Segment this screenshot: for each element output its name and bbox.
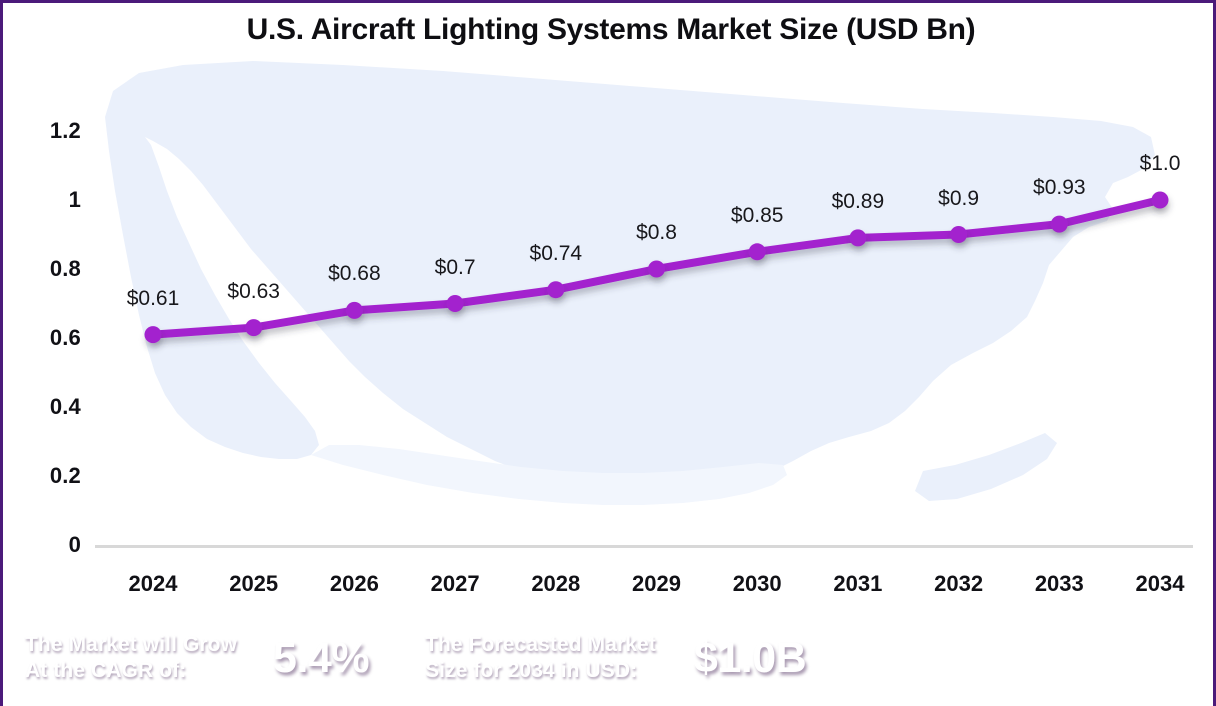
- plot-area: 1.2 1 0.8 0.6 0.4 0.2 0 $0.61$0.63$0.68$…: [3, 49, 1215, 608]
- x-tick-label: 2027: [431, 571, 480, 597]
- x-tick-label: 2026: [330, 571, 379, 597]
- x-tick-label: 2024: [129, 571, 178, 597]
- x-tick-label: 2025: [229, 571, 278, 597]
- cagr-label-line1: The Market will Grow: [25, 632, 237, 658]
- forecast-block: The Forecasted Market Size for 2034 in U…: [425, 632, 656, 683]
- data-point-label: $0.63: [227, 280, 280, 304]
- data-point[interactable]: [547, 281, 564, 298]
- x-axis-labels: 2024202520262027202820292030203120322033…: [3, 559, 1215, 604]
- data-point[interactable]: [1051, 216, 1068, 233]
- x-tick-label: 2028: [531, 571, 580, 597]
- logo-name: market.us: [941, 637, 1133, 667]
- data-point[interactable]: [145, 326, 162, 343]
- x-tick-label: 2033: [1035, 571, 1084, 597]
- data-point[interactable]: [1152, 192, 1169, 209]
- logo-tagline: ONE STOP SHOP FOR THE REPORTS: [941, 671, 1133, 679]
- data-point-label: $0.9: [938, 187, 979, 211]
- data-point[interactable]: [447, 295, 464, 312]
- x-tick-label: 2029: [632, 571, 681, 597]
- market-us-logo[interactable]: market.us ONE STOP SHOP FOR THE REPORTS: [878, 637, 1133, 679]
- forecast-label-line1: The Forecasted Market: [425, 632, 656, 658]
- data-point-label: $0.61: [127, 287, 180, 311]
- data-point-label: $0.8: [636, 221, 677, 245]
- data-point-label: $0.7: [435, 256, 476, 280]
- data-point[interactable]: [950, 226, 967, 243]
- data-point[interactable]: [749, 243, 766, 260]
- forecast-label-line2: Size for 2034 in USD:: [425, 658, 656, 684]
- x-tick-label: 2030: [733, 571, 782, 597]
- cagr-value-block: 5.4%: [273, 634, 369, 683]
- cagr-block: The Market will Grow At the CAGR of:: [25, 632, 237, 683]
- cagr-value: 5.4%: [273, 634, 369, 683]
- x-tick-label: 2034: [1136, 571, 1185, 597]
- data-point-label: $0.68: [328, 262, 381, 286]
- x-tick-label: 2032: [934, 571, 983, 597]
- data-point-label: $1.0: [1140, 152, 1181, 176]
- data-point[interactable]: [849, 229, 866, 246]
- data-point-label: $0.74: [530, 242, 583, 266]
- data-point[interactable]: [648, 261, 665, 278]
- footer-bar: The Market will Grow At the CAGR of: 5.4…: [0, 610, 1216, 706]
- series-line-chart: [3, 49, 1215, 608]
- data-point-label: $0.85: [731, 204, 784, 228]
- page-title: U.S. Aircraft Lighting Systems Market Si…: [3, 13, 1216, 47]
- market-us-logomark-icon: [878, 640, 932, 676]
- forecast-value-block: $1.0B: [694, 634, 806, 683]
- data-point-label: $0.89: [832, 190, 885, 214]
- data-point-label: $0.93: [1033, 176, 1086, 200]
- forecast-value: $1.0B: [694, 634, 806, 683]
- data-point[interactable]: [245, 319, 262, 336]
- chart-infographic: U.S. Aircraft Lighting Systems Market Si…: [0, 0, 1216, 706]
- x-tick-label: 2031: [833, 571, 882, 597]
- data-point[interactable]: [346, 302, 363, 319]
- cagr-label-line2: At the CAGR of:: [25, 658, 237, 684]
